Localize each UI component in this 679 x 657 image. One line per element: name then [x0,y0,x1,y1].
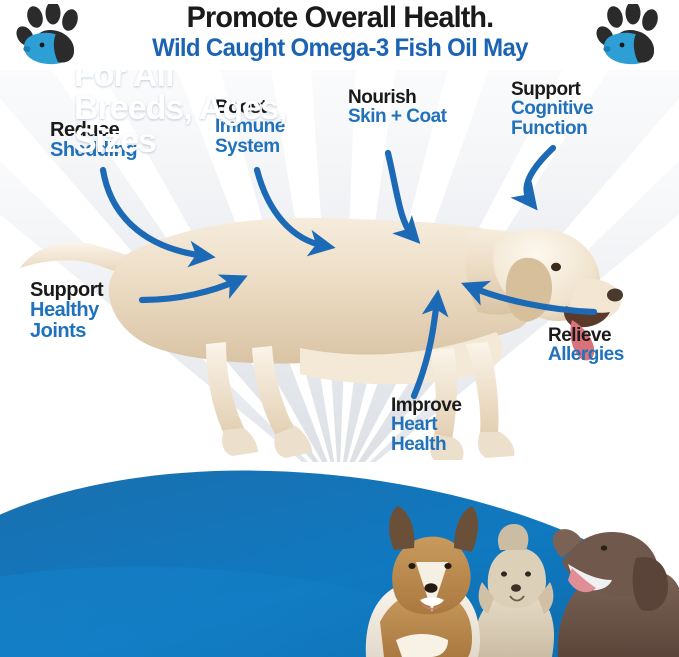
benefit-relieve-allergies: Relieve Allergies [548,326,624,365]
benefit-head: Support [511,80,593,99]
header-text-block: Promote Overall Health. Wild Caught Omeg… [95,2,585,62]
benefit-line: Function [511,119,593,138]
arrow-boost-immune [257,170,325,246]
paw-print-dog-logo-icon [592,4,670,66]
benefit-line: Allergies [548,345,624,364]
banner-line-3: Sizes [74,125,287,158]
benefit-improve-heart: Improve Heart Health [391,396,461,454]
benefit-line: Joints [30,321,103,341]
benefit-nourish-skin-coat: Nourish Skin + Coat [348,88,447,127]
benefit-head: Improve [391,396,461,415]
benefit-head: Support [30,280,103,300]
page-title: Promote Overall Health. [105,2,575,34]
banner-headline: For All Breeds, Ages, Sizes [74,59,287,158]
benefit-support-joints: Support Healthy Joints [30,280,103,341]
benefit-line: Heart [391,415,461,434]
benefit-head: Nourish [348,88,447,107]
infographic-root: Reduce Shedding Boost Immune System Nour… [0,0,679,657]
paw-print-dog-logo-icon [12,4,90,66]
arrow-improve-heart [414,300,437,396]
arrow-reduce-shedding [103,170,205,256]
arrow-support-cognitive [527,148,553,202]
arrow-support-joints [142,280,238,300]
benefit-line: Health [391,435,461,454]
benefit-line: Cognitive [511,99,593,118]
benefit-support-cognitive: Support Cognitive Function [511,80,593,138]
benefit-line: Healthy [30,300,103,320]
arrow-relieve-allergies [471,287,594,312]
benefit-line: Skin + Coat [348,107,447,126]
arrow-nourish-skin-coat [388,153,413,236]
banner-line-2: Breeds, Ages, [74,92,287,125]
header-bar: Promote Overall Health. Wild Caught Omeg… [0,0,679,70]
page-subtitle: Wild Caught Omega-3 Fish Oil May [105,34,575,62]
benefit-head: Relieve [548,326,624,345]
three-dogs-photo [336,462,679,657]
